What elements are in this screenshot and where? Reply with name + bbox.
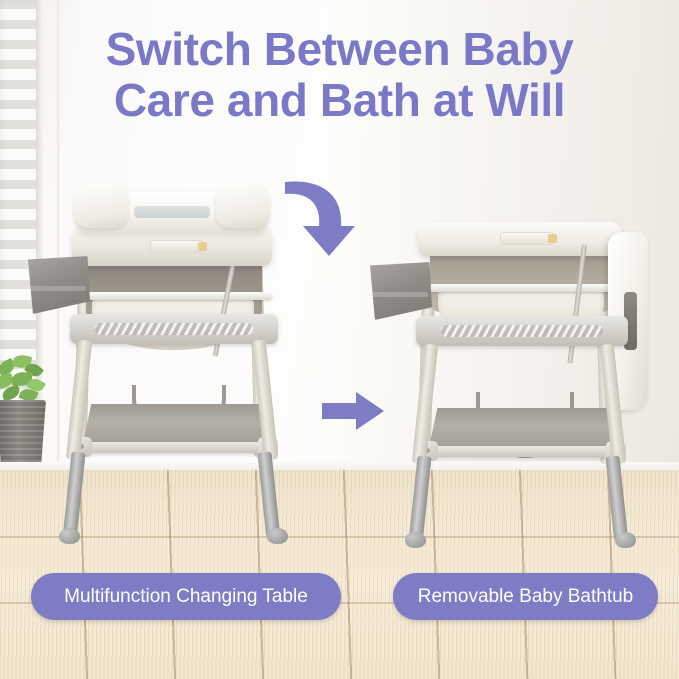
changing-pad-cushion <box>134 206 210 218</box>
bathtub-support-shelf <box>80 292 272 300</box>
grip-texture <box>441 325 602 337</box>
caption-left-label: Multifunction Changing Table <box>64 586 308 608</box>
grip-texture <box>95 323 253 335</box>
caption-pill-left: Multifunction Changing Table <box>31 573 341 620</box>
product-marketing-image: Switch Between Baby Care and Bath at Wil… <box>0 0 679 679</box>
changing-pad-wing-right <box>216 182 270 228</box>
curved-down-arrow-icon <box>281 172 365 258</box>
shelf-rail <box>78 442 274 453</box>
pad-latch <box>500 232 554 245</box>
product-left-changing-table <box>30 180 322 560</box>
bathtub-support-shelf <box>424 284 622 292</box>
product-right-baby-bathtub <box>372 206 672 560</box>
leg-tip-front-left <box>62 452 85 541</box>
headline-line-1: Switch Between Baby <box>0 24 679 75</box>
caption-pill-right: Removable Baby Bathtub <box>393 573 658 620</box>
leg-tip-front-left <box>408 456 431 545</box>
table-top-rail <box>418 222 622 256</box>
safety-grip-bar <box>416 316 628 346</box>
pad-latch <box>150 240 204 253</box>
caption-right-label: Removable Baby Bathtub <box>418 586 633 608</box>
leg-foot-right <box>267 528 288 544</box>
headline: Switch Between Baby Care and Bath at Wil… <box>0 24 679 126</box>
changing-pad-wing-left <box>74 182 128 228</box>
caddy-band <box>30 286 86 291</box>
leg-foot-left <box>59 528 80 544</box>
changing-pad-base <box>72 226 272 266</box>
shelf-rail <box>424 446 622 457</box>
headline-line-2: Care and Bath at Will <box>0 75 679 126</box>
safety-grip-bar <box>70 314 278 344</box>
leg-foot-left <box>405 532 426 548</box>
caddy-band <box>372 292 428 297</box>
leg-foot-right <box>615 532 636 548</box>
